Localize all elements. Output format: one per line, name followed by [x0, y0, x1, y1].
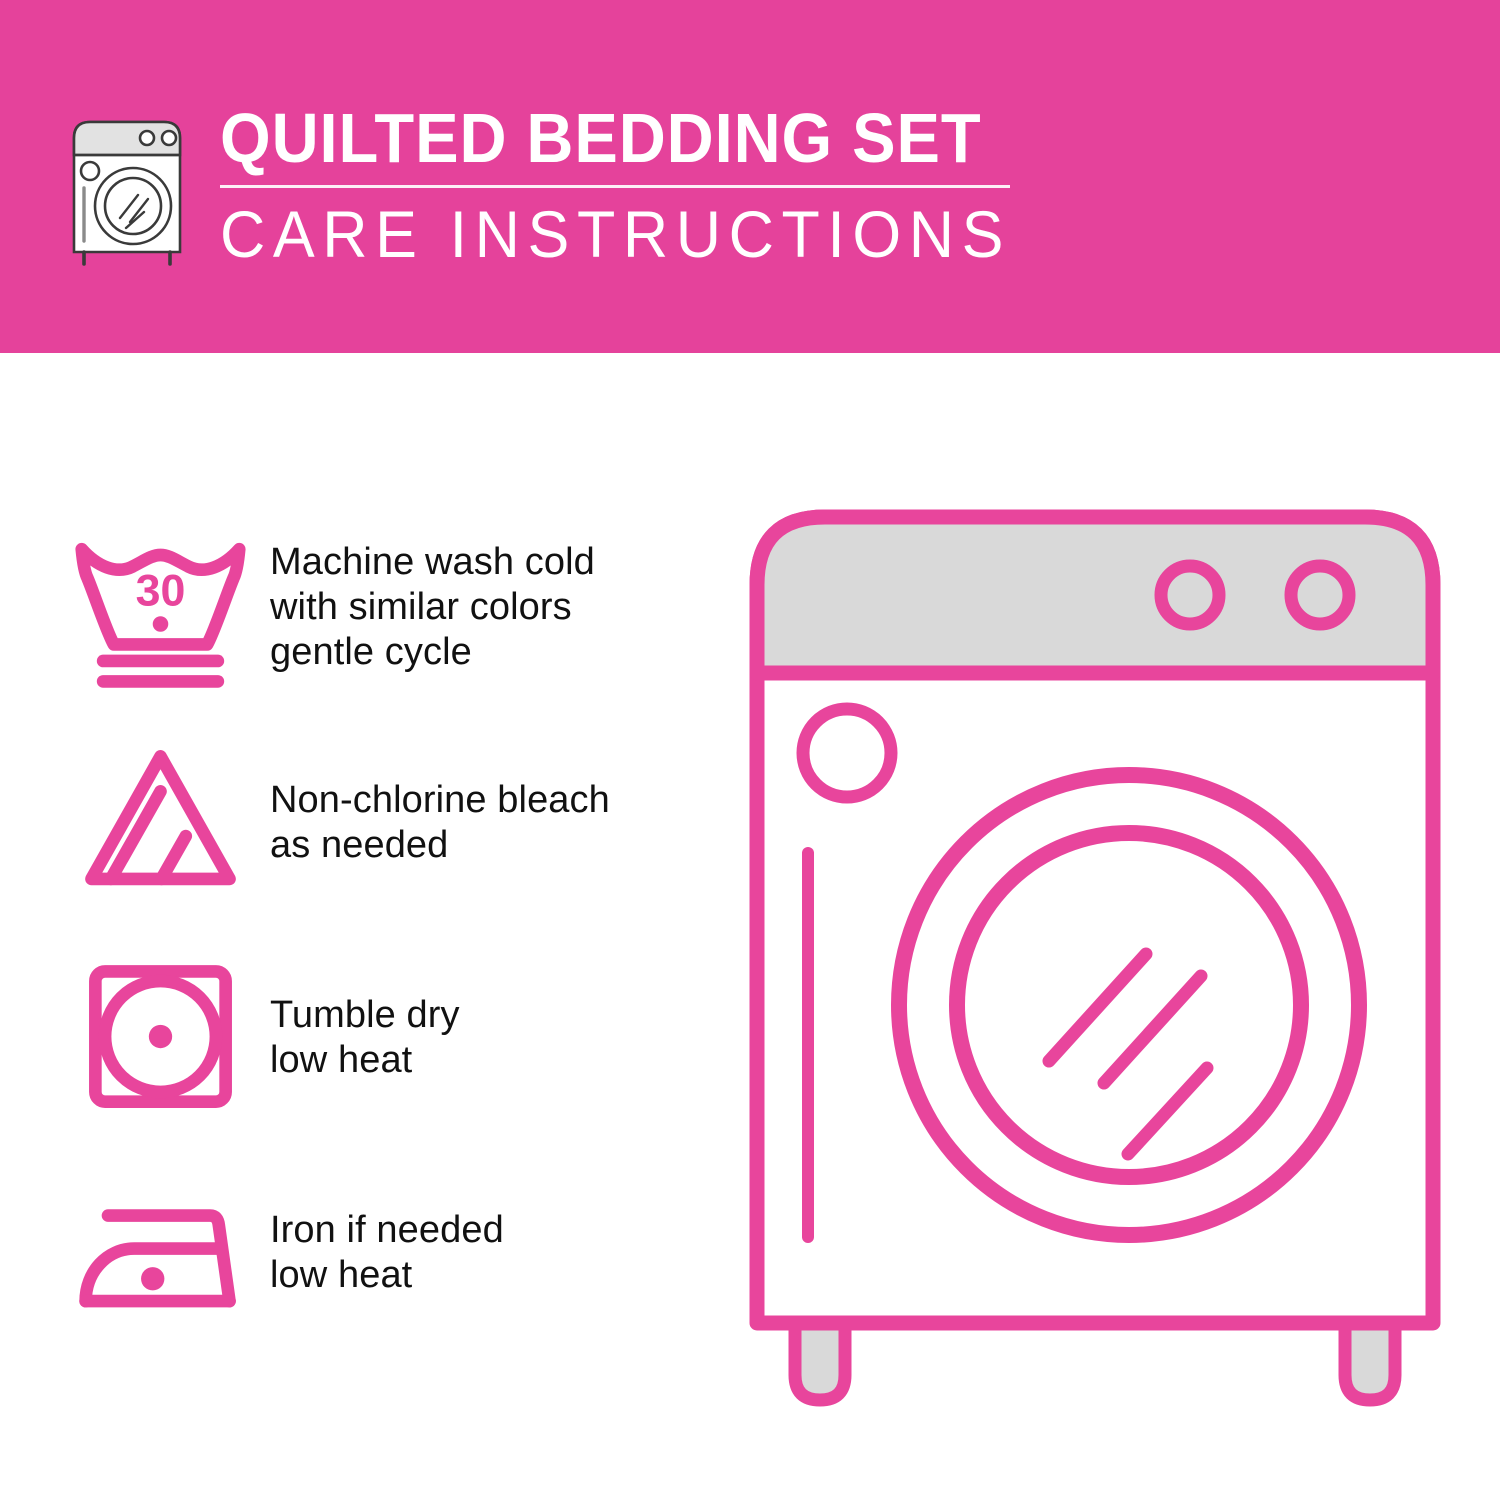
header-banner: QUILTED BEDDING SET CARE INSTRUCTIONS: [0, 0, 1500, 353]
care-label-line: Non-chlorine bleach: [270, 778, 720, 823]
care-label-line: gentle cycle: [270, 630, 720, 675]
care-label-line: Tumble dry: [270, 993, 720, 1038]
header-text-block: QUILTED BEDDING SET CARE INSTRUCTIONS: [220, 100, 1053, 270]
bleach-triangle-icon: [60, 735, 260, 910]
title-divider: [220, 185, 1010, 188]
washing-machine-icon: [62, 108, 192, 268]
header-content: QUILTED BEDDING SET CARE INSTRUCTIONS: [62, 100, 1053, 270]
page-subtitle: CARE INSTRUCTIONS: [220, 198, 1011, 270]
page-title: QUILTED BEDDING SET: [220, 100, 994, 176]
wash-temperature-value: 30: [135, 567, 185, 616]
care-label: Tumble dry low heat: [260, 993, 720, 1083]
care-label-line: low heat: [270, 1038, 720, 1083]
iron-icon: [60, 1165, 260, 1340]
washing-machine-illustration: [735, 495, 1455, 1435]
care-instructions-page: QUILTED BEDDING SET CARE INSTRUCTIONS: [0, 0, 1500, 1500]
care-row: Non-chlorine bleach as needed: [60, 715, 720, 930]
care-label-line: as needed: [270, 823, 720, 868]
care-instruction-list: 30 Machine wash cold with similar colors…: [60, 500, 720, 1360]
care-row: Tumble dry low heat: [60, 930, 720, 1145]
care-row: Iron if needed low heat: [60, 1145, 720, 1360]
care-label-line: Machine wash cold: [270, 540, 720, 585]
care-label-line: low heat: [270, 1253, 720, 1298]
tumble-dry-icon: [60, 950, 260, 1125]
care-label-line: Iron if needed: [270, 1208, 720, 1253]
care-label: Iron if needed low heat: [260, 1208, 720, 1298]
care-label-line: with similar colors: [270, 585, 720, 630]
care-label: Machine wash cold with similar colors ge…: [260, 540, 720, 675]
care-label: Non-chlorine bleach as needed: [260, 778, 720, 868]
care-row: 30 Machine wash cold with similar colors…: [60, 500, 720, 715]
wash-tub-30-icon: 30: [60, 520, 260, 695]
